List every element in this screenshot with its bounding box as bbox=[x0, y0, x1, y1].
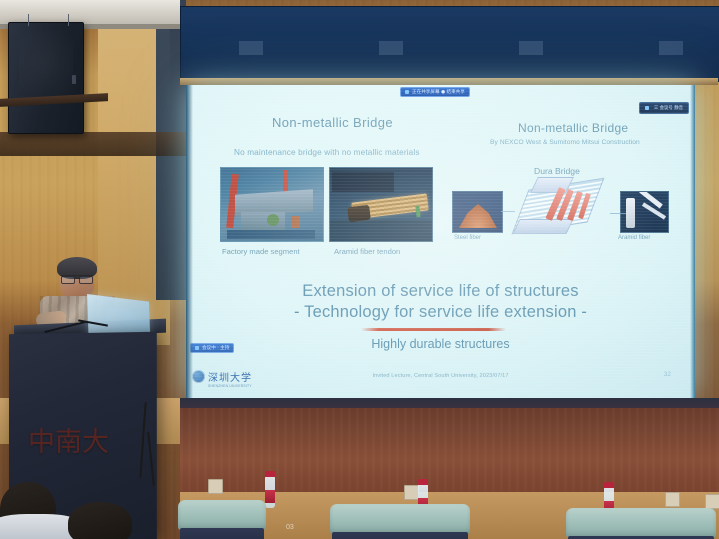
slide-highlight-text: Highly durable structures bbox=[186, 337, 695, 351]
university-name: 深圳大学 bbox=[208, 369, 252, 384]
university-name-en: SHENZHEN UNIVERSITY bbox=[208, 384, 252, 388]
slide-page-number: 32 bbox=[664, 371, 671, 378]
meeting-icon bbox=[195, 346, 199, 350]
slide-headline-line2: - Technology for service life extension … bbox=[186, 303, 695, 322]
caption-factory-made-segment: Factory made segment bbox=[222, 247, 300, 256]
bottle-cap-3 bbox=[604, 482, 614, 488]
wall-outlet-3 bbox=[665, 492, 680, 507]
slide-headline-line1: Extension of service life of structures bbox=[186, 282, 695, 301]
menu-icon bbox=[645, 106, 649, 110]
slide-left-title: Non-metallic Bridge bbox=[272, 115, 393, 130]
bottle-cap-1 bbox=[265, 471, 275, 477]
bottle-label-1 bbox=[265, 490, 275, 503]
slide-left-subtitle: No maintenance bridge with no metallic m… bbox=[234, 148, 420, 157]
meeting-status-label: 会议中 · 主持 bbox=[202, 345, 229, 351]
shenzhen-university-logo: 深圳大学 bbox=[192, 369, 252, 384]
seat-row-item bbox=[566, 508, 716, 539]
meeting-toolbar-pill[interactable]: 三 会议号 静音 bbox=[639, 102, 689, 114]
screen-share-banner[interactable]: 正在共享屏幕 ● 结束共享 bbox=[400, 87, 470, 97]
wall-outlet-4 bbox=[705, 494, 719, 509]
headline-underline bbox=[361, 328, 506, 331]
diagram-leader-left bbox=[501, 211, 515, 212]
bridge-cross-section-diagram bbox=[508, 177, 620, 239]
seat-row-item bbox=[178, 500, 266, 539]
caption-steel-fiber: Steel fiber bbox=[454, 235, 481, 241]
slide-right-subtitle: By NEXCO West & Sumitomo Mitsui Construc… bbox=[490, 139, 640, 146]
photo-factory-made-segment bbox=[220, 167, 324, 242]
caption-aramid-fiber: Aramid fiber bbox=[618, 235, 650, 241]
wall-outlet-1 bbox=[208, 479, 223, 494]
photo-aramid-fiber bbox=[620, 191, 669, 233]
valance-light-strip bbox=[181, 41, 719, 55]
projection-screen: Non-metallic Bridge No maintenance bridg… bbox=[186, 85, 695, 398]
photo-aramid-fiber-tendon bbox=[329, 167, 433, 242]
meeting-toolbar-label: 三 会议号 静音 bbox=[654, 105, 683, 111]
slide-footer: Invited Lecture, Central South Universit… bbox=[186, 373, 695, 379]
wall-outlet-2 bbox=[404, 485, 419, 500]
monitor-label: 03 bbox=[286, 524, 294, 531]
water-bottle-1 bbox=[265, 476, 275, 508]
speaker-hanger-right bbox=[68, 14, 69, 26]
audience-head-2 bbox=[68, 502, 132, 539]
auditorium-back-wall bbox=[180, 406, 719, 496]
valance-bottom-trim bbox=[180, 78, 718, 85]
university-seal-icon bbox=[192, 370, 205, 383]
slide-right-title: Non-metallic Bridge bbox=[518, 121, 628, 135]
screen-left-edge bbox=[186, 85, 193, 398]
seat-row-item bbox=[330, 504, 470, 539]
loudspeaker-icon bbox=[8, 22, 84, 134]
wall-top-trim bbox=[180, 398, 719, 408]
lecture-hall-photo: Non-metallic Bridge No maintenance bridg… bbox=[0, 0, 719, 539]
wall-trim-band bbox=[0, 132, 186, 156]
speaker-hanger-left bbox=[28, 14, 29, 26]
presentation-slide: Non-metallic Bridge No maintenance bridg… bbox=[186, 85, 695, 398]
speaker-port bbox=[72, 75, 76, 84]
share-icon bbox=[405, 90, 409, 94]
glasses-icon bbox=[61, 275, 93, 282]
photo-steel-fiber bbox=[452, 191, 503, 233]
slide-diagram-title: Dura Bridge bbox=[534, 166, 580, 176]
venue-wall-characters: 中南大 bbox=[28, 430, 109, 456]
screen-share-label: 正在共享屏幕 ● 结束共享 bbox=[412, 89, 465, 95]
back-wall-grain bbox=[180, 406, 719, 496]
diagram-leader-right bbox=[610, 213, 626, 214]
bottle-cap-2 bbox=[418, 479, 428, 485]
screen-valance bbox=[180, 6, 719, 82]
screen-right-edge bbox=[690, 85, 695, 398]
meeting-status-pill[interactable]: 会议中 · 主持 bbox=[190, 343, 234, 353]
caption-aramid-fiber-tendon: Aramid fiber tendon bbox=[334, 247, 400, 256]
